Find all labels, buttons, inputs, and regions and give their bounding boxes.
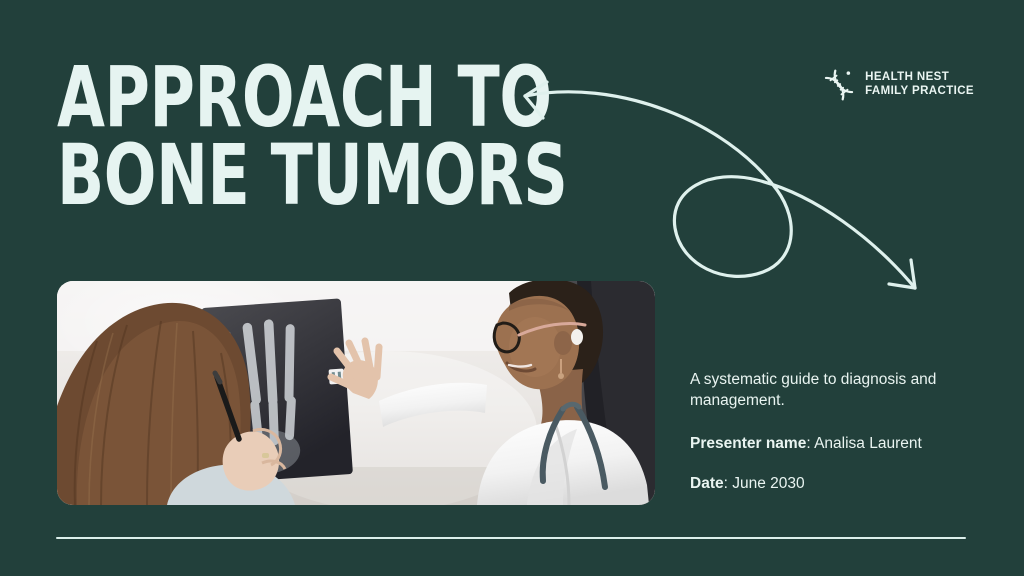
presenter-value: : Analisa Laurent — [806, 435, 921, 452]
date-label: Date — [690, 475, 724, 492]
slide-info: A systematic guide to diagnosis and mana… — [690, 370, 980, 495]
hero-photo — [57, 281, 655, 505]
logo-line-2: Family Practice — [865, 85, 974, 99]
page-title: Approach to Bone Tumors — [57, 58, 527, 214]
brand-logo: Health Nest Family Practice — [822, 68, 974, 102]
title-line-1: Approach to — [57, 58, 442, 136]
title-line-2: Bone Tumors — [57, 136, 442, 214]
footer-divider — [56, 537, 966, 539]
logo-wordmark: Health Nest Family Practice — [865, 71, 974, 98]
presenter-label: Presenter name — [690, 435, 806, 452]
logo-line-1: Health Nest — [865, 71, 974, 85]
clinicians-xray-illustration — [57, 281, 655, 505]
dna-helix-icon — [822, 68, 856, 102]
date-value: : June 2030 — [724, 475, 805, 492]
presenter-line: Presenter name: Analisa Laurent — [690, 434, 980, 455]
title-slide: Approach to Bone Tumors Health Nest Fami… — [0, 0, 1024, 576]
date-line: Date: June 2030 — [690, 474, 980, 495]
slide-subtitle: A systematic guide to diagnosis and mana… — [690, 370, 980, 412]
